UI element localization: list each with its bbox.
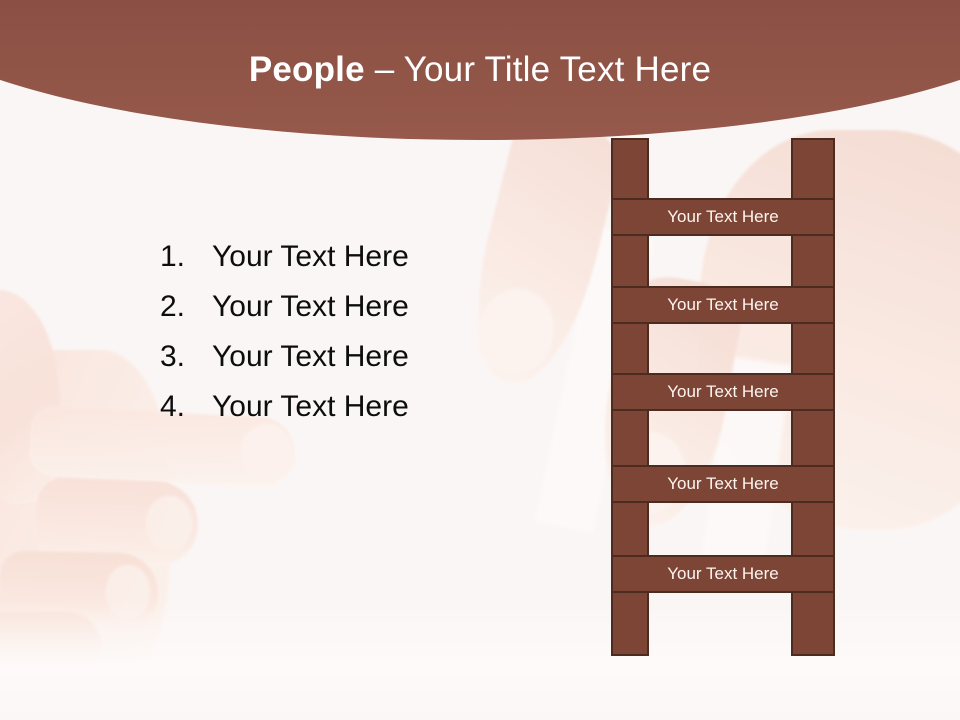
left-hand-thumb	[0, 284, 74, 512]
ladder-rung[interactable]: Your Text Here	[611, 286, 835, 324]
list-item-label: Your Text Here	[212, 232, 500, 282]
slide: People – Your Title Text Here 1. Your Te…	[0, 0, 960, 720]
list-item-number: 1.	[160, 232, 212, 282]
list-item-label: Your Text Here	[212, 332, 500, 382]
list-item[interactable]: 1. Your Text Here	[160, 232, 500, 282]
left-hand-pinky-finger	[0, 612, 102, 686]
ladder-rung[interactable]: Your Text Here	[611, 198, 835, 236]
page-title-strong: People	[249, 50, 365, 89]
list-item-label: Your Text Here	[212, 282, 500, 332]
list-item-label: Your Text Here	[212, 382, 500, 432]
left-hand-palm	[0, 350, 170, 710]
list-item[interactable]: 2. Your Text Here	[160, 282, 500, 332]
list-item[interactable]: 3. Your Text Here	[160, 332, 500, 382]
left-hand-middle-finger	[35, 477, 200, 568]
list-item-number: 3.	[160, 332, 212, 382]
page-title: People – Your Title Text Here	[0, 48, 960, 92]
left-hand-ring-finger	[0, 551, 159, 636]
ladder-rung[interactable]: Your Text Here	[611, 555, 835, 593]
list-item-number: 2.	[160, 282, 212, 332]
page-title-rest: – Your Title Text Here	[365, 50, 711, 89]
list-item-number: 4.	[160, 382, 212, 432]
list-item[interactable]: 4. Your Text Here	[160, 382, 500, 432]
numbered-list: 1. Your Text Here 2. Your Text Here 3. Y…	[160, 232, 500, 432]
ladder-rung[interactable]: Your Text Here	[611, 465, 835, 503]
ladder-rung[interactable]: Your Text Here	[611, 373, 835, 411]
ladder-diagram: Your Text Here Your Text Here Your Text …	[611, 138, 835, 656]
